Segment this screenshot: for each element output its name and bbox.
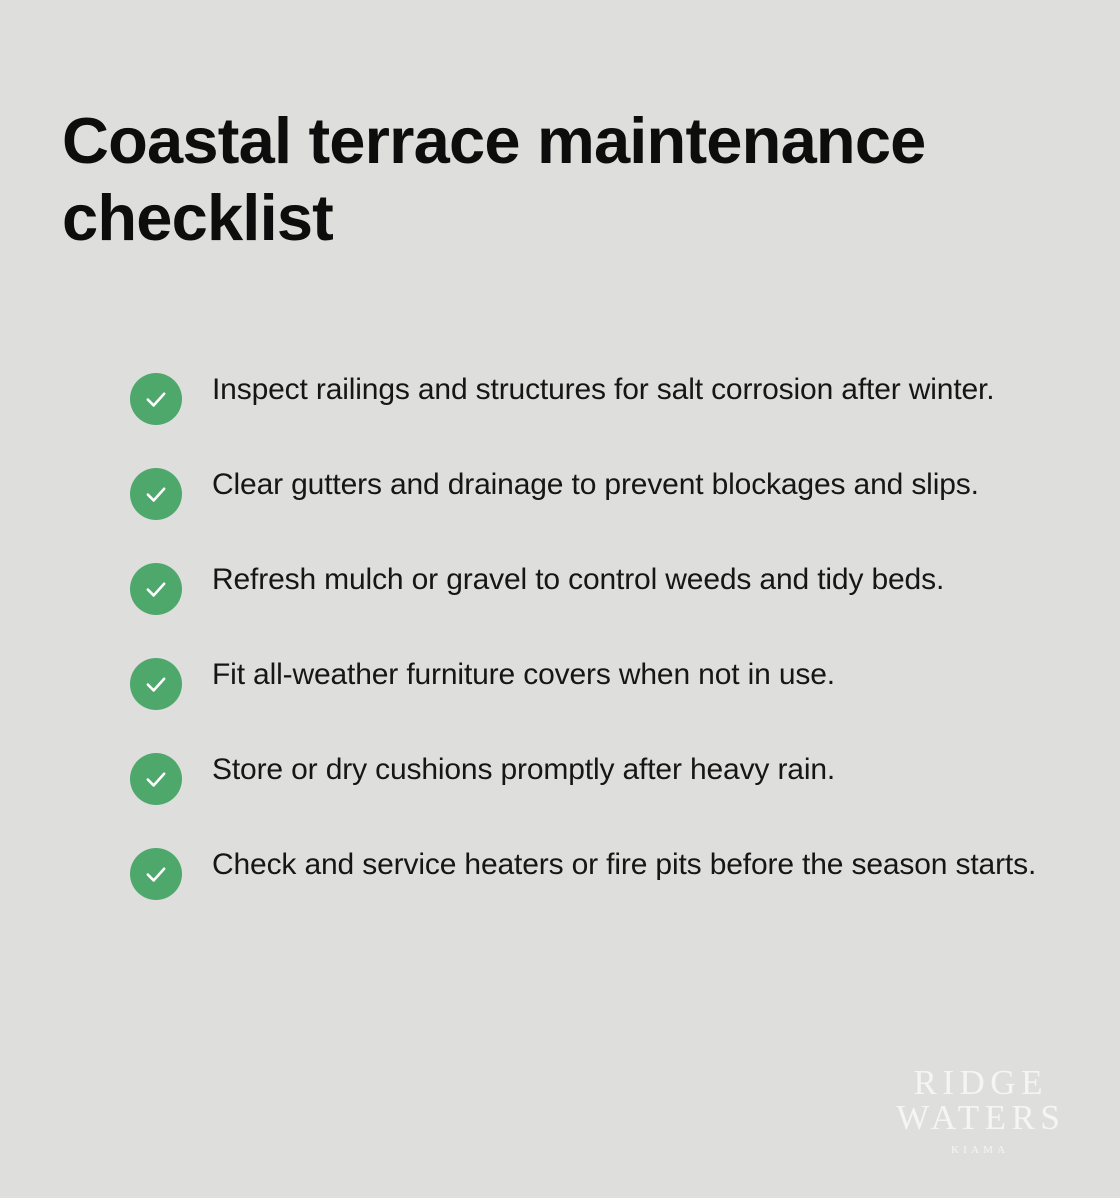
check-circle-icon xyxy=(130,848,182,900)
list-item: Refresh mulch or gravel to control weeds… xyxy=(130,558,1060,615)
list-item: Check and service heaters or fire pits b… xyxy=(130,843,1060,900)
list-item-label: Store or dry cushions promptly after hea… xyxy=(212,748,1060,792)
check-circle-icon xyxy=(130,563,182,615)
list-item-label: Inspect railings and structures for salt… xyxy=(212,368,1060,412)
list-item-label: Refresh mulch or gravel to control weeds… xyxy=(212,558,1060,602)
list-item: Store or dry cushions promptly after hea… xyxy=(130,748,1060,805)
check-circle-icon xyxy=(130,468,182,520)
page-title: Coastal terrace maintenance checklist xyxy=(62,103,1022,256)
brand-name-line1: RIDGE xyxy=(888,1066,1068,1100)
checklist-card: Coastal terrace maintenance checklist In… xyxy=(0,0,1120,1198)
list-item: Fit all-weather furniture covers when no… xyxy=(130,653,1060,710)
checklist: Inspect railings and structures for salt… xyxy=(130,368,1060,900)
check-circle-icon xyxy=(130,658,182,710)
list-item: Clear gutters and drainage to prevent bl… xyxy=(130,463,1060,520)
list-item-label: Fit all-weather furniture covers when no… xyxy=(212,653,1060,697)
list-item: Inspect railings and structures for salt… xyxy=(130,368,1060,425)
check-circle-icon xyxy=(130,753,182,805)
brand-watermark: RIDGE WATERS KIAMA xyxy=(888,1066,1068,1156)
brand-location: KIAMA xyxy=(888,1144,1068,1156)
check-circle-icon xyxy=(130,373,182,425)
brand-name-line2: WATERS xyxy=(888,1100,1068,1137)
list-item-label: Check and service heaters or fire pits b… xyxy=(212,843,1060,887)
list-item-label: Clear gutters and drainage to prevent bl… xyxy=(212,463,1060,507)
